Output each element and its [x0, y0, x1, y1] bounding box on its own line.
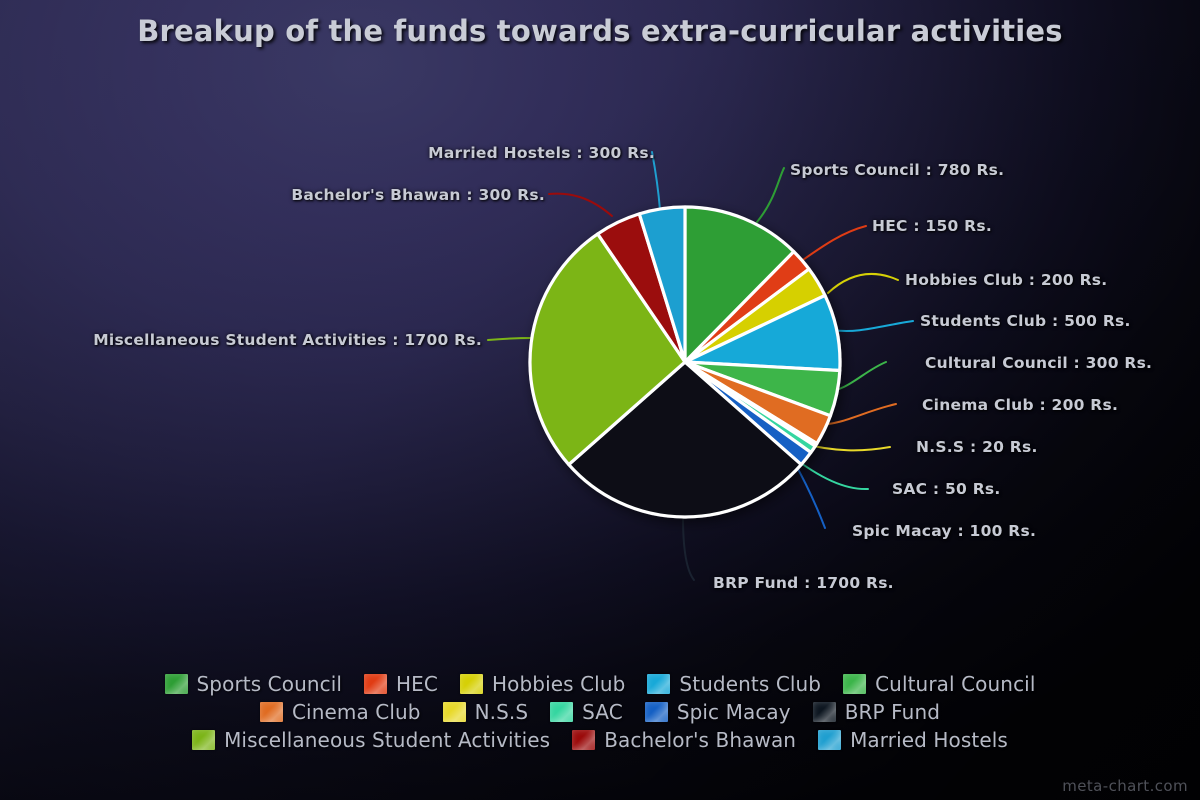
- legend-label: Bachelor's Bhawan: [604, 728, 796, 752]
- leader-line: [488, 338, 533, 340]
- legend-item[interactable]: Married Hostels: [818, 728, 1008, 752]
- legend-swatch: [813, 702, 836, 722]
- legend-row: Cinema ClubN.S.SSACSpic MacayBRP Fund: [249, 700, 951, 724]
- page-title: Breakup of the funds towards extra-curri…: [0, 14, 1200, 48]
- pie-slice-layer: [530, 207, 840, 517]
- legend-swatch: [645, 702, 668, 722]
- legend-label: Students Club: [679, 672, 821, 696]
- legend-label: Cultural Council: [875, 672, 1035, 696]
- legend-swatch: [192, 730, 215, 750]
- legend-label: Married Hostels: [850, 728, 1008, 752]
- legend-swatch: [647, 674, 670, 694]
- legend-item[interactable]: SAC: [550, 700, 623, 724]
- legend-swatch: [165, 674, 188, 694]
- leader-line: [800, 226, 866, 262]
- legend-item[interactable]: Hobbies Club: [460, 672, 625, 696]
- slice-callout-label: SAC : 50 Rs.: [892, 480, 1001, 498]
- slice-callout-label: BRP Fund : 1700 Rs.: [713, 574, 894, 592]
- legend-swatch: [443, 702, 466, 722]
- legend-swatch: [460, 674, 483, 694]
- leader-line: [549, 194, 612, 216]
- legend-label: Cinema Club: [292, 700, 421, 724]
- legend-item[interactable]: Miscellaneous Student Activities: [192, 728, 550, 752]
- legend-swatch: [550, 702, 573, 722]
- legend-label: Hobbies Club: [492, 672, 625, 696]
- legend-row: Sports CouncilHECHobbies ClubStudents Cl…: [154, 672, 1047, 696]
- legend: Sports CouncilHECHobbies ClubStudents Cl…: [0, 672, 1200, 752]
- legend-swatch: [818, 730, 841, 750]
- legend-label: Spic Macay: [677, 700, 791, 724]
- slice-callout-label: Cultural Council : 300 Rs.: [925, 354, 1152, 372]
- slice-callout-label: Hobbies Club : 200 Rs.: [905, 271, 1107, 289]
- slice-callout-label: Married Hostels : 300 Rs.: [428, 144, 655, 162]
- slice-callout-label: Students Club : 500 Rs.: [920, 312, 1131, 330]
- legend-item[interactable]: Cinema Club: [260, 700, 421, 724]
- leader-line: [833, 321, 913, 331]
- legend-label: BRP Fund: [845, 700, 940, 724]
- leader-line: [828, 274, 898, 293]
- legend-swatch: [364, 674, 387, 694]
- legend-swatch: [572, 730, 595, 750]
- legend-item[interactable]: Students Club: [647, 672, 821, 696]
- slice-callout-label: N.S.S : 20 Rs.: [916, 438, 1038, 456]
- legend-row: Miscellaneous Student ActivitiesBachelor…: [181, 728, 1019, 752]
- slice-callout-label: HEC : 150 Rs.: [872, 217, 992, 235]
- slice-callout-label: Spic Macay : 100 Rs.: [852, 522, 1036, 540]
- slice-callout-label: Sports Council : 780 Rs.: [790, 161, 1004, 179]
- pie-chart-page: Breakup of the funds towards extra-curri…: [0, 0, 1200, 800]
- legend-item[interactable]: N.S.S: [443, 700, 529, 724]
- legend-label: HEC: [396, 672, 438, 696]
- legend-swatch: [260, 702, 283, 722]
- legend-label: Sports Council: [197, 672, 343, 696]
- leader-line: [757, 168, 784, 222]
- legend-item[interactable]: HEC: [364, 672, 438, 696]
- slice-callout-label: Cinema Club : 200 Rs.: [922, 396, 1118, 414]
- legend-label: Miscellaneous Student Activities: [224, 728, 550, 752]
- watermark: meta-chart.com: [1062, 777, 1188, 795]
- legend-item[interactable]: BRP Fund: [813, 700, 940, 724]
- legend-item[interactable]: Cultural Council: [843, 672, 1035, 696]
- legend-item[interactable]: Bachelor's Bhawan: [572, 728, 796, 752]
- legend-swatch: [843, 674, 866, 694]
- legend-label: SAC: [582, 700, 623, 724]
- slice-callout-label: Bachelor's Bhawan : 300 Rs.: [291, 186, 545, 204]
- legend-item[interactable]: Sports Council: [165, 672, 343, 696]
- legend-label: N.S.S: [475, 700, 529, 724]
- slice-callout-label: Miscellaneous Student Activities : 1700 …: [93, 331, 482, 349]
- legend-item[interactable]: Spic Macay: [645, 700, 791, 724]
- leader-line: [683, 517, 694, 580]
